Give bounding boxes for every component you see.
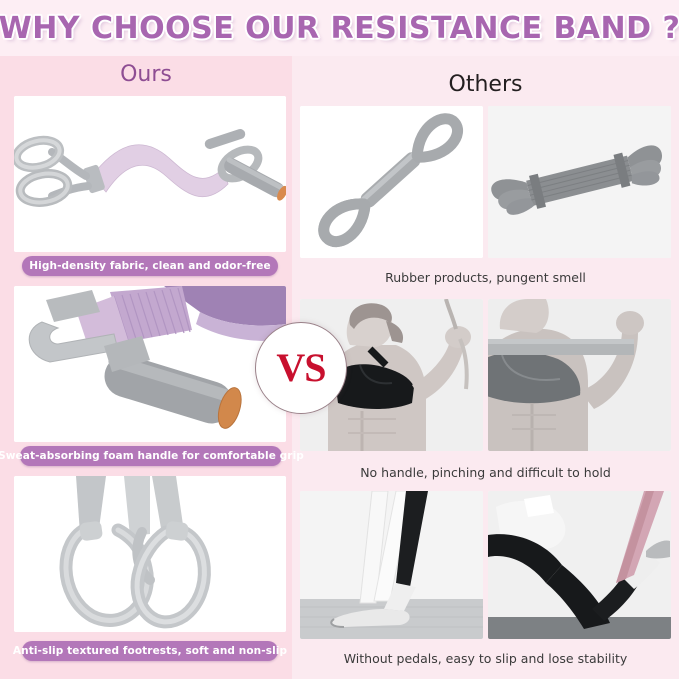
others-caption-2: No handle, pinching and difficult to hol… <box>292 465 679 480</box>
ours-caption-1: High-density fabric, clean and odor-free <box>22 256 278 276</box>
resistance-band-full-product-photo <box>14 96 286 252</box>
others-card-3a[interactable] <box>300 491 483 639</box>
poster-root: WHY CHOOSE OUR RESISTANCE BAND ? Ours Ot… <box>0 0 679 679</box>
others-heading: Others <box>292 72 679 97</box>
others-card-2b[interactable] <box>488 299 671 451</box>
gray-rubber-figure-eight-band-photo <box>300 106 483 258</box>
ours-card-2[interactable] <box>14 286 286 442</box>
ours-caption-2: Sweat-absorbing foam handle for comforta… <box>20 446 282 466</box>
bare-foot-on-mat-with-band-photo <box>300 491 483 639</box>
ours-heading: Ours <box>0 62 292 87</box>
poster-title-bar: WHY CHOOSE OUR RESISTANCE BAND ? <box>0 0 679 56</box>
ours-card-1[interactable] <box>14 96 286 252</box>
vs-label: VS <box>276 348 325 388</box>
woman-stretching-band-across-chest-photo <box>488 299 671 451</box>
others-caption-1: Rubber products, pungent smell <box>292 270 679 285</box>
others-card-1b[interactable] <box>488 106 671 258</box>
others-caption-3: Without pedals, easy to slip and lose st… <box>292 651 679 666</box>
vs-badge: VS <box>255 322 347 414</box>
gray-rubber-loop-band-photo <box>488 106 671 258</box>
others-card-1a[interactable] <box>300 106 483 258</box>
foam-handle-closeup-photo <box>14 286 286 442</box>
padded-foot-loops-photo <box>14 476 286 632</box>
ours-caption-3: Anti-slip textured footrests, soft and n… <box>22 641 278 661</box>
ours-card-3[interactable] <box>14 476 286 632</box>
others-card-3b[interactable] <box>488 491 671 639</box>
leg-raise-with-band-around-foot-photo <box>488 491 671 639</box>
poster-title: WHY CHOOSE OUR RESISTANCE BAND ? <box>0 11 679 46</box>
